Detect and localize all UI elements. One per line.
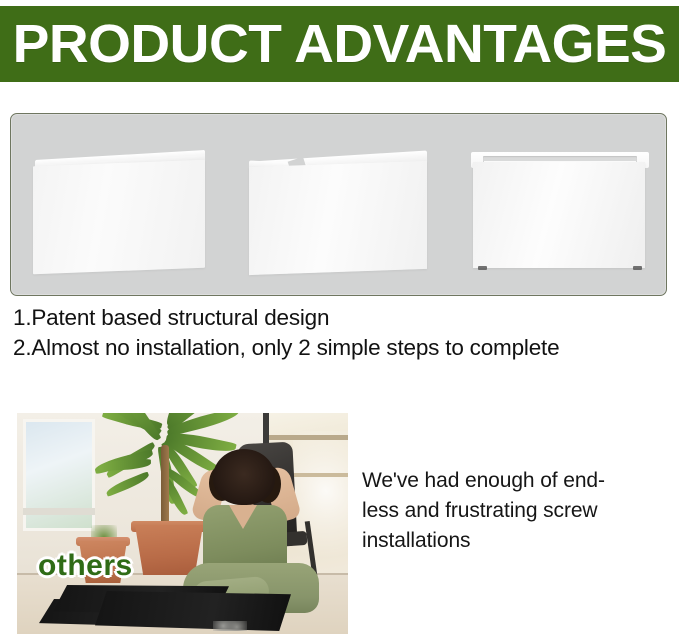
- folded-panel-face: [249, 161, 427, 275]
- step-1-flat-panel: [33, 155, 207, 273]
- page-title: PRODUCT ADVANTAGES: [13, 16, 667, 72]
- advantages-list: 1.Patent based structural design 2.Almos…: [13, 303, 673, 363]
- caption-line-1: We've had enough of end-: [362, 466, 662, 496]
- photo-window-left-sill: [23, 508, 95, 515]
- lifestyle-photo: [17, 413, 348, 634]
- box-foot-left: [478, 266, 487, 270]
- photo-scattered-screws: [213, 621, 247, 631]
- step-2-folded-panel: [249, 150, 429, 274]
- caption-line-2: less and frustrating screw: [362, 496, 662, 526]
- advantage-item-1: 1.Patent based structural design: [13, 303, 673, 333]
- diagram-stage: [11, 114, 666, 295]
- photo-window-glow: [293, 431, 348, 581]
- advantage-item-2: 2.Almost no installation, only 2 simple …: [13, 333, 673, 363]
- caption-block: We've had enough of end- less and frustr…: [362, 466, 662, 556]
- flat-panel-face: [33, 160, 205, 275]
- box-foot-right: [633, 266, 642, 270]
- photo-window-bar-top: [263, 435, 348, 440]
- others-watermark: others: [38, 549, 133, 583]
- caption-line-3: installations: [362, 526, 662, 556]
- step-3-assembled-box: [471, 149, 651, 274]
- photo-black-panel-3: [95, 591, 291, 631]
- header-banner: PRODUCT ADVANTAGES: [0, 6, 679, 82]
- photo-woman-hair-top: [213, 449, 275, 505]
- box-front-face: [473, 162, 645, 268]
- assembly-diagram-panel: [10, 113, 667, 296]
